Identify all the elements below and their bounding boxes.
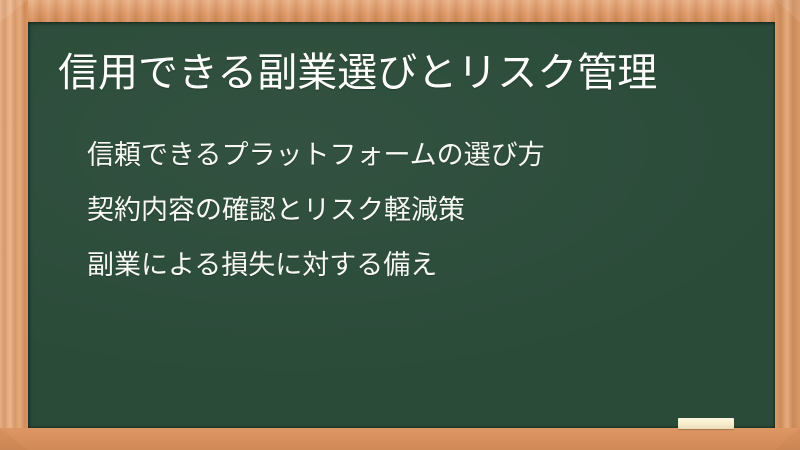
chalkboard-surface: 信用できる副業選びとリスク管理 信頼できるプラットフォームの選び方 契約内容の確…	[28, 22, 775, 428]
frame-bottom-ledge	[0, 428, 800, 450]
bullet-list: 信頼できるプラットフォームの選び方 契約内容の確認とリスク軽減策 副業による損失…	[87, 128, 747, 293]
slide-title: 信用できる副業選びとリスク管理	[58, 48, 657, 98]
bullet-item-3: 副業による損失に対する備え	[87, 238, 747, 293]
frame-left-rail	[0, 0, 28, 450]
frame-miter-bottom-right	[775, 428, 800, 450]
frame-top-rail	[0, 0, 800, 22]
chalk-stick-icon	[678, 418, 734, 429]
bullet-item-1: 信頼できるプラットフォームの選び方	[87, 128, 747, 183]
bullet-item-2: 契約内容の確認とリスク軽減策	[87, 183, 747, 238]
frame-miter-top-left	[0, 0, 28, 22]
blackboard-slide: 信用できる副業選びとリスク管理 信頼できるプラットフォームの選び方 契約内容の確…	[0, 0, 800, 450]
frame-miter-bottom-left	[0, 428, 28, 450]
frame-right-rail	[775, 0, 800, 450]
frame-miter-top-right	[775, 0, 800, 22]
